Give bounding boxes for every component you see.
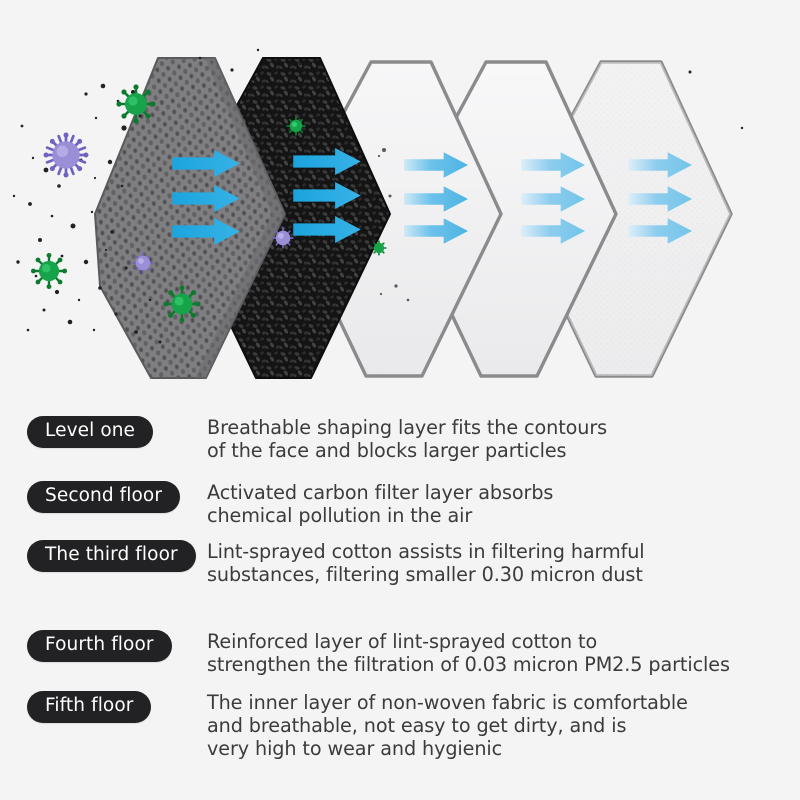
virus-purple-2: [133, 253, 153, 273]
description-line: very high to wear and hygienic: [207, 737, 790, 760]
layer-badge-fifth-floor: Fifth floor: [27, 691, 151, 723]
description-line: The inner layer of non-woven fabric is c…: [207, 691, 790, 714]
description-line: and breathable, not easy to get dirty, a…: [207, 714, 790, 737]
illustration-panel: [0, 0, 800, 395]
airflow-arrows-layer-2: [293, 148, 361, 243]
layer-badge-second-floor: Second floor: [27, 481, 180, 513]
pill-cell-2: Second floor: [0, 481, 207, 513]
description-line: substances, filtering smaller 0.30 micro…: [207, 563, 790, 586]
pill-cell-3: The third floor: [0, 540, 207, 572]
legend-row-2: Second floor Activated carbon filter lay…: [0, 481, 800, 527]
layer-badge-level-one: Level one: [27, 416, 153, 448]
layer-description-2: Activated carbon filter layer absorbs ch…: [207, 481, 800, 527]
airflow-arrows-layer-1: [172, 150, 240, 245]
layer-description-1: Breathable shaping layer fits the contou…: [207, 416, 800, 462]
layer-badge-third-floor: The third floor: [27, 540, 196, 572]
airflow-arrows-layer-5: [628, 152, 692, 244]
legend-row-1: Level one Breathable shaping layer fits …: [0, 416, 800, 462]
description-line: of the face and blocks larger particles: [207, 439, 790, 462]
legend-row-3: The third floor Lint-sprayed cotton assi…: [0, 540, 800, 586]
virus-purple-3: [273, 228, 293, 248]
legend-row-4: Fourth floor Reinforced layer of lint-sp…: [0, 630, 800, 676]
layer-description-4: Reinforced layer of lint-sprayed cotton …: [207, 630, 800, 676]
description-line: Activated carbon filter layer absorbs: [207, 481, 790, 504]
virus-green-3: [163, 285, 200, 322]
airflow-arrows-layer-3: [404, 152, 468, 244]
airflow-arrows-layer-4: [521, 152, 585, 244]
virus-green-4: [287, 117, 305, 135]
layer-description-3: Lint-sprayed cotton assists in filtering…: [207, 540, 800, 586]
virus-green-2: [31, 253, 67, 289]
description-line: strengthen the filtration of 0.03 micron…: [207, 653, 790, 676]
legend-list: Level one Breathable shaping layer fits …: [0, 398, 800, 800]
virus-green-5: [372, 241, 386, 255]
description-line: Reinforced layer of lint-sprayed cotton …: [207, 630, 790, 653]
layer-description-5: The inner layer of non-woven fabric is c…: [207, 691, 800, 761]
description-line: Lint-sprayed cotton assists in filtering…: [207, 540, 790, 563]
virus-green-1: [116, 84, 155, 123]
description-line: chemical pollution in the air: [207, 504, 790, 527]
legend-row-5: Fifth floor The inner layer of non-woven…: [0, 691, 800, 761]
mask-filtration-infographic: Level one Breathable shaping layer fits …: [0, 0, 800, 800]
pill-cell-5: Fifth floor: [0, 691, 207, 723]
layer-badge-fourth-floor: Fourth floor: [27, 630, 172, 662]
description-line: Breathable shaping layer fits the contou…: [207, 416, 790, 439]
pill-cell-4: Fourth floor: [0, 630, 207, 662]
pill-cell-1: Level one: [0, 416, 207, 448]
